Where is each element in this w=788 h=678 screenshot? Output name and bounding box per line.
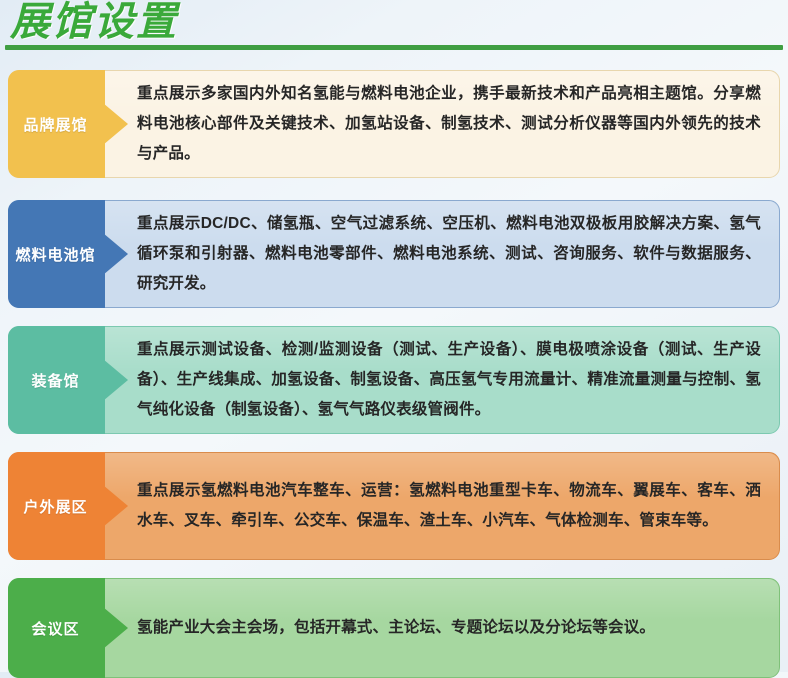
exhibition-section-row: 重点展示DC/DC、储氢瓶、空气过滤系统、空压机、燃料电池双极板用胶解决方案、氢…: [0, 200, 788, 308]
exhibition-section-row: 氢能产业大会主会场，包括开幕式、主论坛、专题论坛以及分论坛等会议。会议区: [0, 578, 788, 678]
chevron-right-icon: [103, 233, 128, 275]
exhibition-section-row: 重点展示氢燃料电池汽车整车、运营：氢燃料电池重型卡车、物流车、翼展车、客车、洒水…: [0, 452, 788, 560]
chevron-right-icon: [103, 607, 128, 649]
section-label-tab[interactable]: 户外展区: [8, 452, 103, 560]
chevron-right-icon: [103, 485, 128, 527]
section-description: 重点展示多家国内外知名氢能与燃料电池企业，携手最新技术和产品亮相主题馆。分享燃料…: [137, 79, 761, 169]
title-divider: [5, 45, 783, 50]
page-title: 展馆设置: [10, 0, 178, 46]
section-label-tab[interactable]: 装备馆: [8, 326, 103, 434]
section-description: 重点展示氢燃料电池汽车整车、运营：氢燃料电池重型卡车、物流车、翼展车、客车、洒水…: [137, 476, 761, 536]
section-label-tab[interactable]: 会议区: [8, 578, 103, 678]
section-label-text: 户外展区: [23, 496, 87, 517]
section-label-tab[interactable]: 品牌展馆: [8, 70, 103, 178]
section-label-tab[interactable]: 燃料电池馆: [8, 200, 103, 308]
section-description: 重点展示DC/DC、储氢瓶、空气过滤系统、空压机、燃料电池双极板用胶解决方案、氢…: [137, 209, 761, 299]
exhibition-section-row: 重点展示测试设备、检测/监测设备（测试、生产设备）、膜电极喷涂设备（测试、生产设…: [0, 326, 788, 434]
section-label-text: 燃料电池馆: [15, 244, 95, 265]
page-header: 展馆设置: [0, 0, 788, 58]
section-label-text: 装备馆: [31, 370, 79, 391]
section-description: 氢能产业大会主会场，包括开幕式、主论坛、专题论坛以及分论坛等会议。: [137, 613, 761, 643]
section-label-text: 会议区: [31, 618, 79, 639]
section-description: 重点展示测试设备、检测/监测设备（测试、生产设备）、膜电极喷涂设备（测试、生产设…: [137, 335, 761, 425]
section-label-text: 品牌展馆: [23, 114, 87, 135]
exhibition-section-row: 重点展示多家国内外知名氢能与燃料电池企业，携手最新技术和产品亮相主题馆。分享燃料…: [0, 70, 788, 178]
chevron-right-icon: [103, 359, 128, 401]
chevron-right-icon: [103, 103, 128, 145]
